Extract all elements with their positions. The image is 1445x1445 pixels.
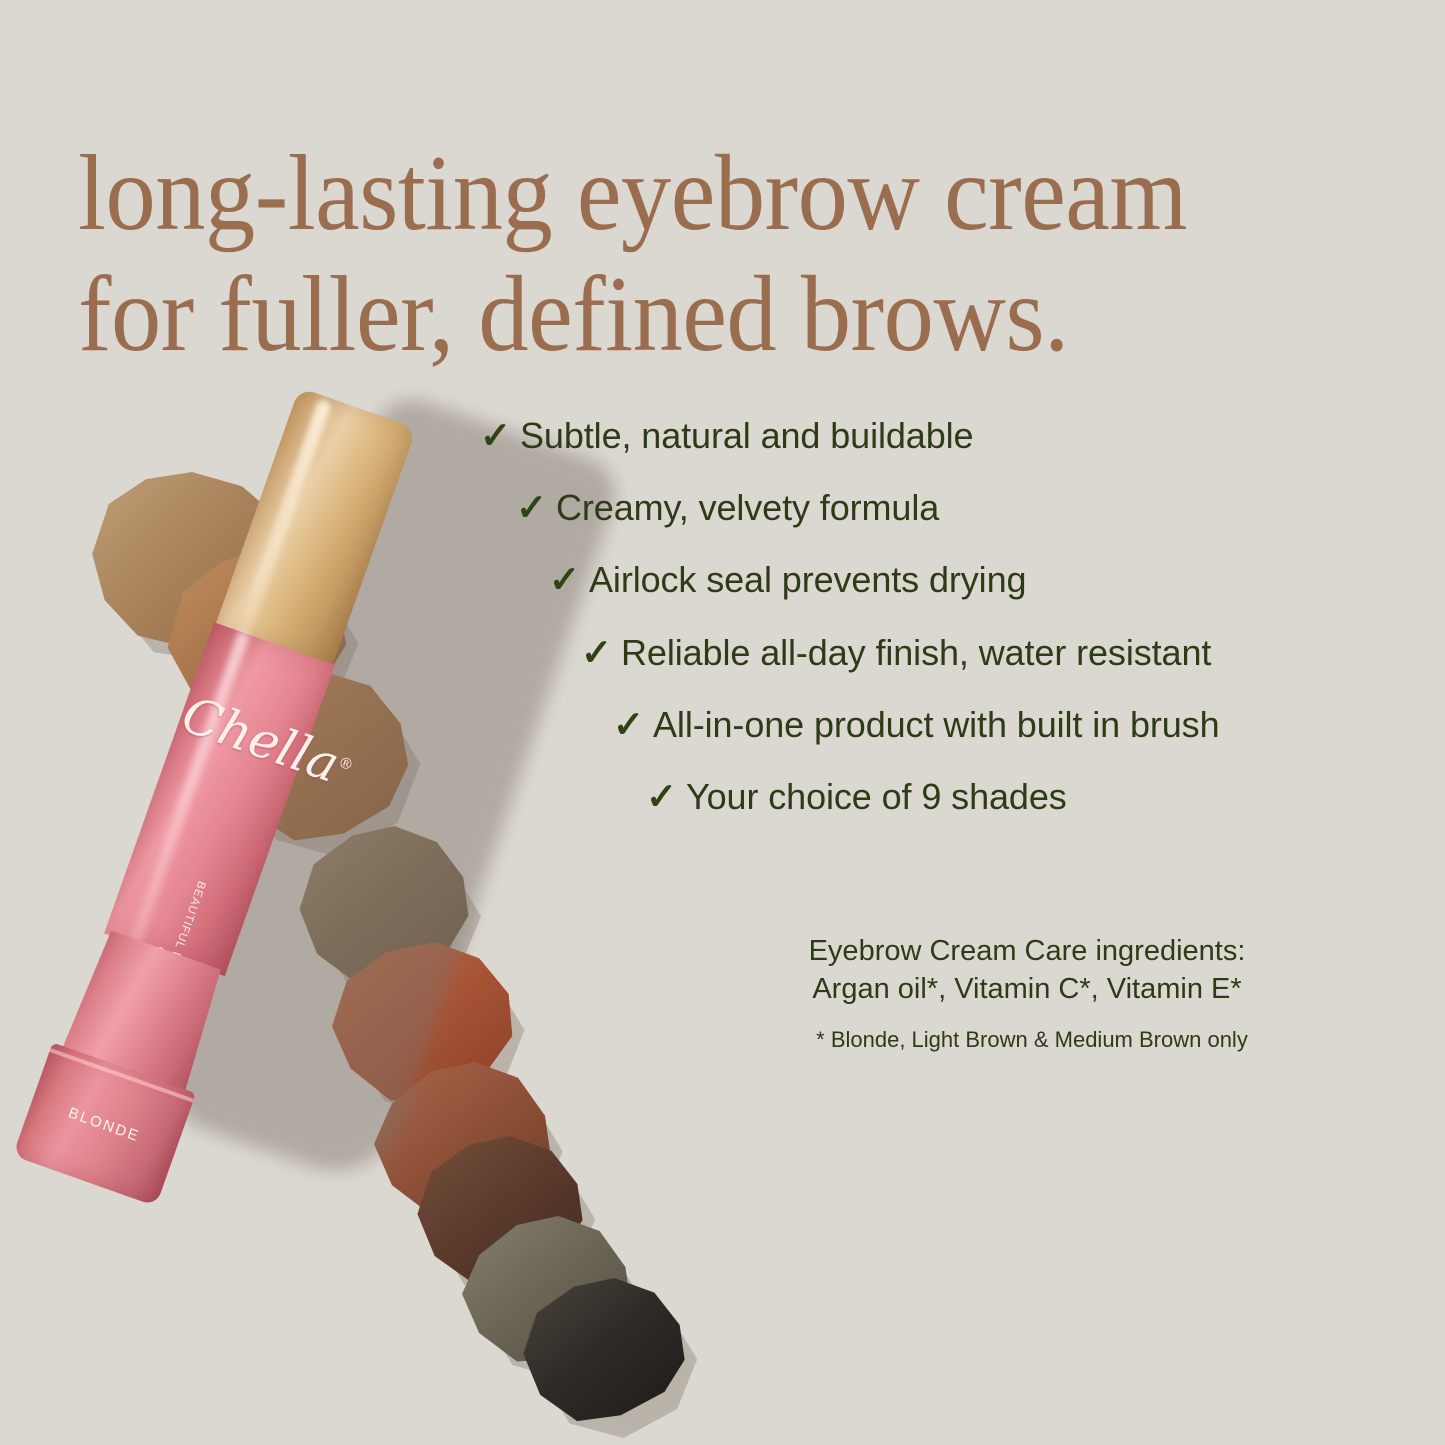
feature-item-5: ✓ All-in-one product with built in brush — [613, 706, 1220, 743]
swatch-espresso — [520, 1278, 688, 1424]
feature-label: Airlock seal prevents drying — [589, 562, 1026, 598]
feature-label: Reliable all-day finish, water resistant — [621, 635, 1211, 671]
check-icon: ✓ — [646, 778, 677, 815]
check-icon: ✓ — [581, 634, 612, 671]
feature-label: Subtle, natural and buildable — [520, 418, 973, 454]
ingredients-text: Eyebrow Cream Care ingredients: Argan oi… — [742, 933, 1312, 1008]
feature-item-2: ✓ Creamy, velvety formula — [516, 489, 939, 526]
feature-label: Creamy, velvety formula — [556, 490, 939, 526]
shade-name-label: BLONDE — [30, 1091, 179, 1158]
feature-label: Your choice of 9 shades — [686, 779, 1067, 815]
check-icon: ✓ — [516, 489, 547, 526]
feature-item-4: ✓ Reliable all-day finish, water resista… — [581, 634, 1211, 671]
ingredients-footnote: * Blonde, Light Brown & Medium Brown onl… — [742, 1026, 1322, 1055]
page-title: long-lasting eyebrow cream for fuller, d… — [78, 134, 1324, 376]
check-icon: ✓ — [613, 706, 644, 743]
check-icon: ✓ — [480, 417, 511, 454]
feature-label: All-in-one product with built in brush — [653, 707, 1220, 743]
feature-item-1: ✓ Subtle, natural and buildable — [480, 417, 973, 454]
check-icon: ✓ — [549, 561, 580, 598]
feature-item-6: ✓ Your choice of 9 shades — [646, 778, 1067, 815]
product-marketing-image: long-lasting eyebrow cream for fuller, d… — [0, 0, 1445, 1445]
feature-item-3: ✓ Airlock seal prevents drying — [549, 561, 1026, 598]
